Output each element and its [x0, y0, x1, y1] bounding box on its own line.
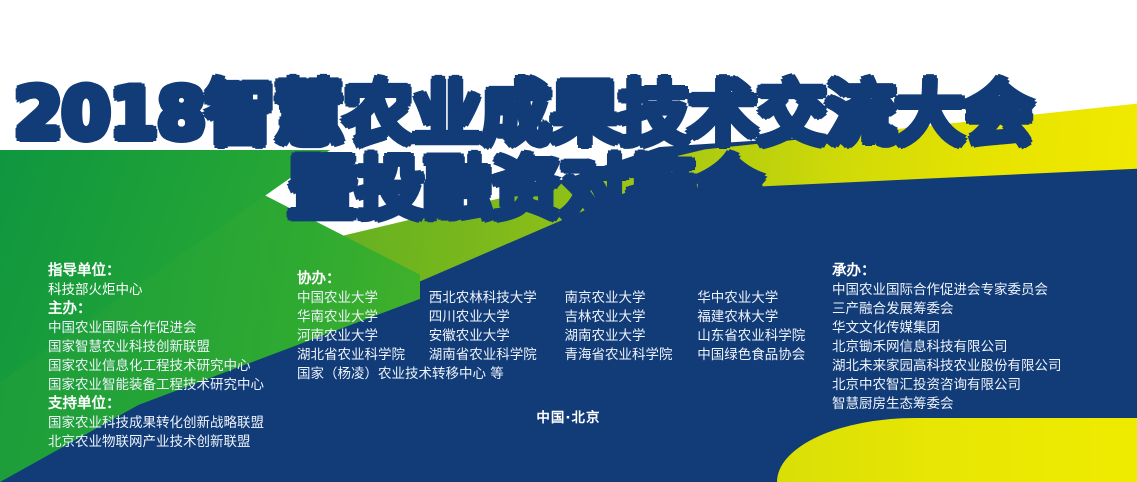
coorganizer-item: 南京农业大学 [564, 289, 697, 308]
host-item: 北京锄禾网信息科技有限公司 [832, 338, 1122, 357]
host-item: 湖北未来家园高科技农业股份有限公司 [832, 357, 1122, 376]
organizer-item: 国家农业信息化工程技术研究中心 [48, 357, 298, 376]
coorganizer-item: 山东省农业科学院 [697, 327, 817, 346]
location-label: 中国·北京 [0, 406, 1137, 426]
organizer-item: 国家农业智能装备工程技术研究中心 [48, 376, 298, 395]
coorganizer-item: 华中农业大学 [697, 289, 817, 308]
guidance-item: 科技部火炬中心 [48, 281, 298, 300]
coorganizer-item: 河南农业大学 [297, 327, 429, 346]
coorganizer-item: 华南农业大学 [297, 308, 429, 327]
credits-column-middle: 协办： 中国农业大学 西北农林科技大学 南京农业大学 华中农业大学 华南农业大学… [297, 270, 817, 384]
coorganizer-item: 湖北省农业科学院 [297, 346, 429, 365]
coorganizer-item: 西北农林科技大学 [429, 289, 565, 308]
host-item: 北京中农智汇投资咨询有限公司 [832, 376, 1122, 395]
host-item: 华文文化传媒集团 [832, 319, 1122, 338]
coorganizer-item: 福建农林大学 [697, 308, 817, 327]
credits-column-right: 承办： 中国农业国际合作促进会专家委员会 三产融合发展筹委会 华文文化传媒集团 … [832, 262, 1122, 414]
coorganizer-row: 华南农业大学 四川农业大学 吉林农业大学 福建农林大学 [297, 308, 817, 327]
organizer-heading: 主办： [48, 300, 298, 319]
coorganizer-item: 吉林农业大学 [564, 308, 697, 327]
coorganizer-item: 中国农业大学 [297, 289, 429, 308]
coorganizer-item: 湖南农业大学 [564, 327, 697, 346]
organizer-item: 中国农业国际合作促进会 [48, 319, 298, 338]
organizer-item: 国家智慧农业科技创新联盟 [48, 338, 298, 357]
coorganizer-item: 安徽农业大学 [429, 327, 565, 346]
conference-poster: 2018智慧农业成果技术交流大会 暨投融资对接会 指导单位： 科技部火炬中心 主… [0, 0, 1137, 482]
supporter-item: 北京农业物联网产业技术创新联盟 [48, 433, 298, 452]
coorganizer-item: 中国绿色食品协会 [697, 346, 817, 365]
coorganizer-grid: 中国农业大学 西北农林科技大学 南京农业大学 华中农业大学 华南农业大学 四川农… [297, 289, 817, 365]
coorganizer-row: 湖北省农业科学院 湖南省农业科学院 青海省农业科学院 中国绿色食品协会 [297, 346, 817, 365]
host-item: 中国农业国际合作促进会专家委员会 [832, 281, 1122, 300]
guidance-heading: 指导单位： [48, 262, 298, 281]
coorganizer-item: 四川农业大学 [429, 308, 565, 327]
host-heading: 承办： [832, 262, 1122, 281]
coorganizer-item: 湖南省农业科学院 [429, 346, 565, 365]
coorganizer-item: 青海省农业科学院 [564, 346, 697, 365]
coorganizer-row: 河南农业大学 安徽农业大学 湖南农业大学 山东省农业科学院 [297, 327, 817, 346]
coorganizer-row: 中国农业大学 西北农林科技大学 南京农业大学 华中农业大学 [297, 289, 817, 308]
coorganizer-heading: 协办： [297, 270, 817, 289]
host-item: 三产融合发展筹委会 [832, 300, 1122, 319]
coorganizer-last-line: 国家（杨凌）农业技术转移中心 等 [297, 365, 817, 384]
